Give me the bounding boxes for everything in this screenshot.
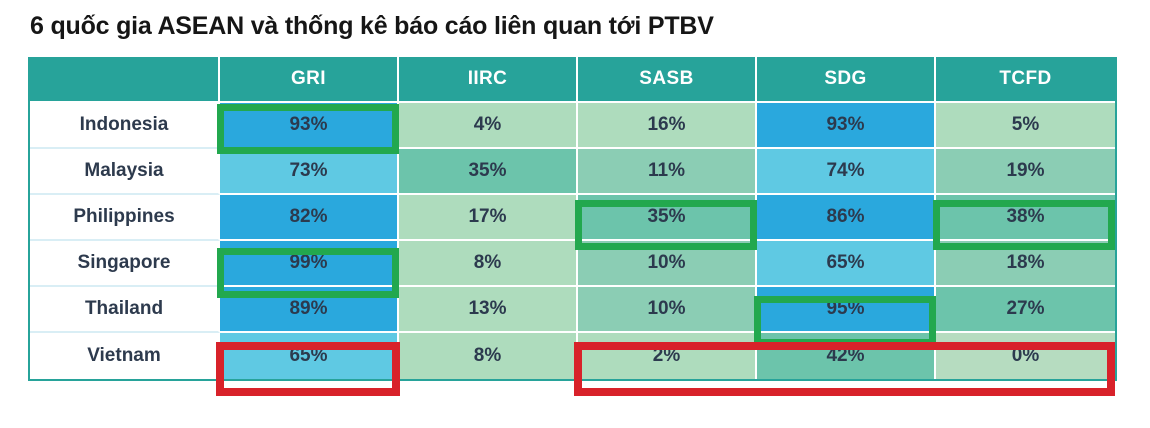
cell-vietnam-sdg: 42% bbox=[757, 333, 936, 379]
column-header-sdg: SDG bbox=[757, 57, 936, 103]
cell-malaysia-sasb: 11% bbox=[578, 149, 757, 195]
row-label-thailand: Thailand bbox=[30, 287, 220, 333]
table-row: Malaysia 73% 35% 11% 74% 19% bbox=[30, 149, 1115, 195]
cell-indonesia-sdg: 93% bbox=[757, 103, 936, 149]
cell-malaysia-tcfd: 19% bbox=[936, 149, 1115, 195]
column-header-iirc: IIRC bbox=[399, 57, 578, 103]
cell-vietnam-sasb: 2% bbox=[578, 333, 757, 379]
cell-singapore-sdg: 65% bbox=[757, 241, 936, 287]
statistics-table-container: GRI IIRC SASB SDG TCFD Indonesia 93% 4% … bbox=[28, 57, 1117, 381]
table-row: Indonesia 93% 4% 16% 93% 5% bbox=[30, 103, 1115, 149]
cell-thailand-sdg: 95% bbox=[757, 287, 936, 333]
row-label-malaysia: Malaysia bbox=[30, 149, 220, 195]
page-title: 6 quốc gia ASEAN và thống kê báo cáo liê… bbox=[30, 12, 714, 41]
cell-malaysia-gri: 73% bbox=[220, 149, 399, 195]
table-row: Vietnam 65% 8% 2% 42% 0% bbox=[30, 333, 1115, 379]
cell-philippines-gri: 82% bbox=[220, 195, 399, 241]
header-row: GRI IIRC SASB SDG TCFD bbox=[30, 57, 1115, 103]
cell-philippines-iirc: 17% bbox=[399, 195, 578, 241]
row-label-vietnam: Vietnam bbox=[30, 333, 220, 379]
row-label-indonesia: Indonesia bbox=[30, 103, 220, 149]
cell-philippines-tcfd: 38% bbox=[936, 195, 1115, 241]
cell-singapore-sasb: 10% bbox=[578, 241, 757, 287]
cell-malaysia-sdg: 74% bbox=[757, 149, 936, 195]
cell-singapore-gri: 99% bbox=[220, 241, 399, 287]
column-header-sasb: SASB bbox=[578, 57, 757, 103]
cell-singapore-tcfd: 18% bbox=[936, 241, 1115, 287]
table-row: Singapore 99% 8% 10% 65% 18% bbox=[30, 241, 1115, 287]
cell-thailand-gri: 89% bbox=[220, 287, 399, 333]
cell-vietnam-iirc: 8% bbox=[399, 333, 578, 379]
table-body: Indonesia 93% 4% 16% 93% 5% Malaysia 73%… bbox=[30, 103, 1115, 379]
row-label-singapore: Singapore bbox=[30, 241, 220, 287]
cell-indonesia-gri: 93% bbox=[220, 103, 399, 149]
cell-vietnam-gri: 65% bbox=[220, 333, 399, 379]
row-label-philippines: Philippines bbox=[30, 195, 220, 241]
table-row: Philippines 82% 17% 35% 86% 38% bbox=[30, 195, 1115, 241]
cell-malaysia-iirc: 35% bbox=[399, 149, 578, 195]
asean-reporting-table: GRI IIRC SASB SDG TCFD Indonesia 93% 4% … bbox=[30, 57, 1115, 379]
cell-vietnam-tcfd: 0% bbox=[936, 333, 1115, 379]
cell-philippines-sasb: 35% bbox=[578, 195, 757, 241]
cell-singapore-iirc: 8% bbox=[399, 241, 578, 287]
cell-thailand-tcfd: 27% bbox=[936, 287, 1115, 333]
cell-indonesia-tcfd: 5% bbox=[936, 103, 1115, 149]
cell-thailand-iirc: 13% bbox=[399, 287, 578, 333]
column-header-gri: GRI bbox=[220, 57, 399, 103]
table-header: GRI IIRC SASB SDG TCFD bbox=[30, 57, 1115, 103]
column-header-tcfd: TCFD bbox=[936, 57, 1115, 103]
cell-indonesia-iirc: 4% bbox=[399, 103, 578, 149]
cell-philippines-sdg: 86% bbox=[757, 195, 936, 241]
cell-indonesia-sasb: 16% bbox=[578, 103, 757, 149]
cell-thailand-sasb: 10% bbox=[578, 287, 757, 333]
table-row: Thailand 89% 13% 10% 95% 27% bbox=[30, 287, 1115, 333]
table-corner-cell bbox=[30, 57, 220, 103]
